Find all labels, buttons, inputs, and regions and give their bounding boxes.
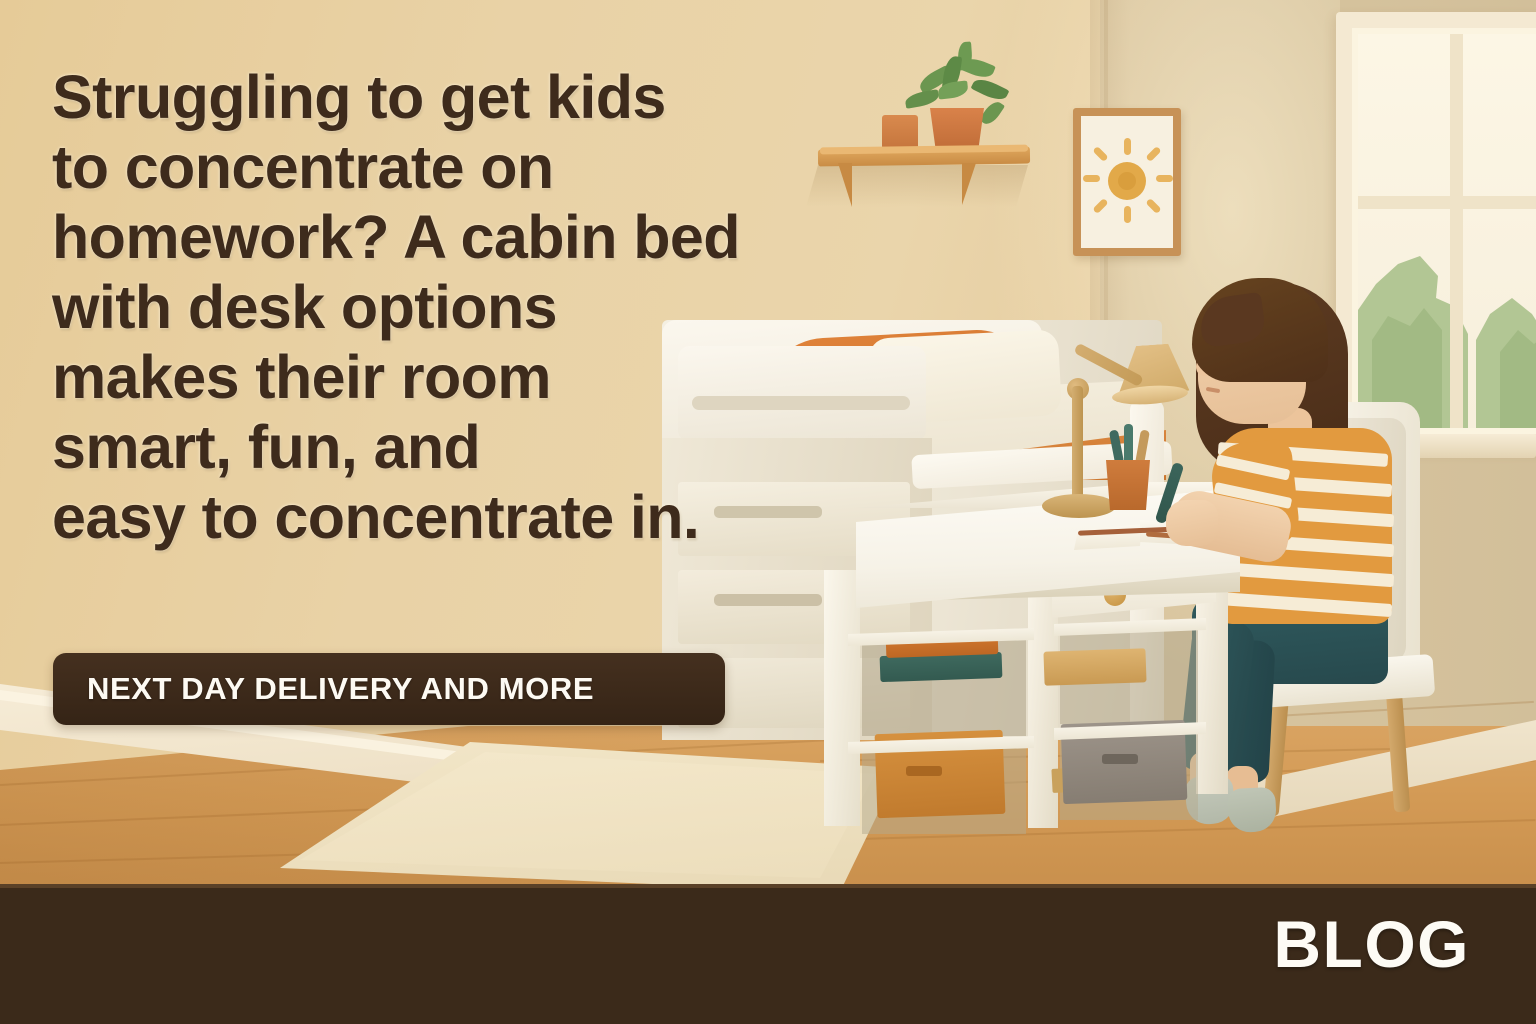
window-mullion-vertical (1450, 34, 1463, 428)
bed-drawer-handle (714, 594, 822, 606)
window-mullion-horizontal (1358, 196, 1536, 209)
sun-ray-icon (1083, 175, 1100, 182)
basket-handle (906, 766, 942, 776)
desk-leg (824, 570, 860, 826)
sun-ray-icon (1124, 138, 1131, 155)
page-title: Struggling to get kidsto concentrate onh… (52, 62, 932, 552)
footer-top-edge (0, 884, 1536, 888)
basket-handle (1102, 754, 1138, 764)
page-title-line: homework? A cabin bed (52, 202, 932, 272)
cta-button[interactable]: NEXT DAY DELIVERY AND MORE (53, 653, 725, 725)
promo-banner: Struggling to get kidsto concentrate onh… (0, 0, 1536, 1024)
girl-hand (1166, 500, 1218, 546)
sun-ray-icon (1156, 175, 1173, 182)
lamp-base (1042, 494, 1116, 518)
pencil (1124, 424, 1133, 464)
sun-ray-icon (1124, 206, 1131, 223)
footer-label: BLOG (1273, 906, 1470, 982)
sun-inner-icon (1118, 172, 1136, 190)
tan-book (1043, 648, 1146, 686)
page-title-line: smart, fun, and (52, 412, 932, 482)
page-title-line: makes their room (52, 342, 932, 412)
pencil-cup (1104, 460, 1152, 510)
lamp-pole (1072, 386, 1083, 500)
page-title-line: to concentrate on (52, 132, 932, 202)
page-title-line: Struggling to get kids (52, 62, 932, 132)
cta-button-label: NEXT DAY DELIVERY AND MORE (87, 671, 594, 707)
page-title-line: with desk options (52, 272, 932, 342)
page-title-line: easy to concentrate in. (52, 482, 932, 552)
